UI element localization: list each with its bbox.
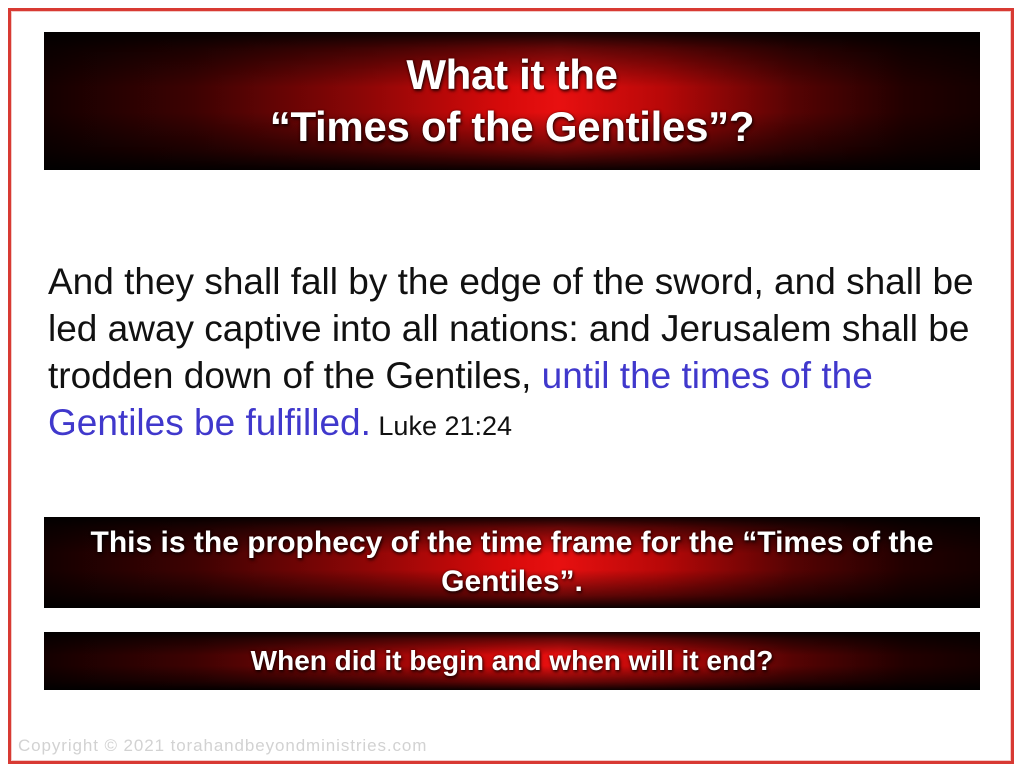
title-banner: What it the “Times of the Gentiles”? (44, 32, 980, 170)
question-banner: When did it begin and when will it end? (44, 632, 980, 690)
question-text: When did it begin and when will it end? (251, 644, 774, 678)
slide-canvas: What it the “Times of the Gentiles”? And… (0, 0, 1024, 774)
scripture-reference: Luke 21:24 (371, 411, 512, 441)
title-text-block: What it the “Times of the Gentiles”? (270, 49, 754, 153)
prophecy-statement-banner: This is the prophecy of the time frame f… (44, 517, 980, 608)
scripture-paragraph: And they shall fall by the edge of the s… (48, 258, 980, 450)
title-line-1: What it the (270, 49, 754, 101)
prophecy-statement-text: This is the prophecy of the time frame f… (70, 524, 954, 601)
title-line-2: “Times of the Gentiles”? (270, 101, 754, 153)
copyright-notice: Copyright © 2021 torahandbeyondministrie… (18, 736, 427, 756)
